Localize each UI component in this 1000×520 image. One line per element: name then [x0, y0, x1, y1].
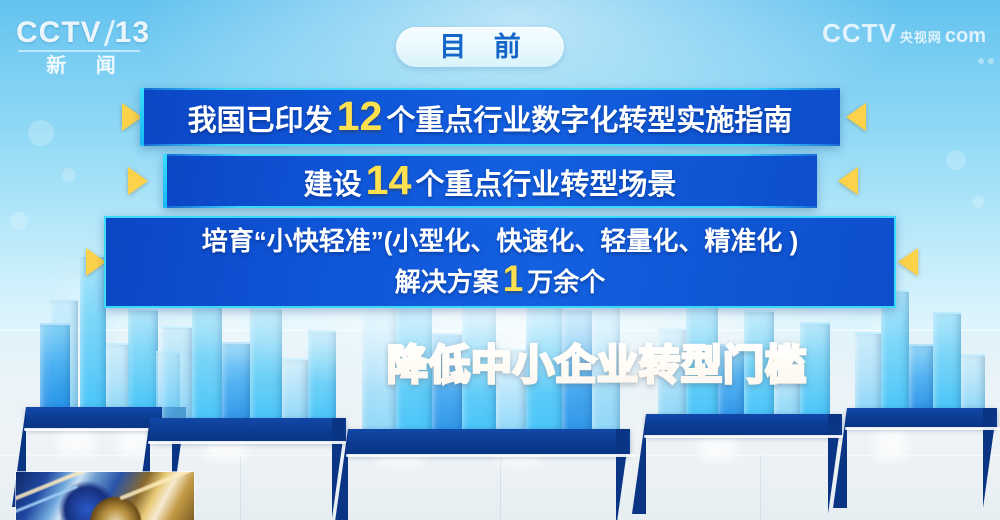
fact-3-line2-post: 万余个 [527, 267, 605, 297]
fact-2-post: 个重点行业转型场景 [415, 169, 676, 201]
fact-bar-3-line-2: 解决方案1万余个 [395, 261, 606, 298]
fact-bar-bottom-line [163, 206, 817, 208]
gold-headline: 降低中小企业转型门槛 [352, 339, 842, 391]
marker-arrow-right-2 [838, 167, 858, 195]
watermark-dots-icon [978, 58, 994, 64]
fact-bar-bottom-line [140, 144, 840, 146]
fact-2-pre: 建设 [304, 169, 362, 201]
bokeh-dot [946, 150, 966, 170]
marker-arrow-right-3 [898, 248, 918, 276]
globe-streak [119, 472, 194, 500]
fact-bar-1: 我国已印发12个重点行业数字化转型实施指南 [140, 88, 840, 146]
floor-seam [240, 455, 241, 520]
fact-1-number: 12 [333, 93, 387, 139]
fact-bar-1-text: 我国已印发12个重点行业数字化转型实施指南 [188, 96, 793, 139]
header-title-pill: 目 前 [396, 27, 564, 67]
fact-1-pre: 我国已印发 [188, 105, 333, 137]
bokeh-dot [972, 196, 984, 208]
bokeh-dot [28, 120, 54, 146]
fact-bar-top-line [140, 88, 840, 90]
broadcast-graphic-stage: CCTV13 新 闻 CCTV 央视网 com 目 前 我国已印发12个重点行业… [0, 0, 1000, 520]
marker-arrow-left-1 [122, 103, 142, 131]
fact-bar-2: 建设14个重点行业转型场景 [163, 154, 817, 208]
marker-arrow-right-1 [846, 103, 866, 131]
fact-bar-accent-edge [163, 154, 167, 208]
fact-3-line2-pre: 解决方案 [395, 267, 499, 297]
bokeh-dot [10, 212, 28, 230]
fact-3-line1-pre: 培育“小快轻准”(小型化、快速化、轻量化、精准化 ) [202, 226, 799, 256]
fact-2-number: 14 [362, 157, 416, 203]
bokeh-dot [62, 168, 76, 182]
globe-streak [16, 472, 93, 503]
fact-bar-3-line-1: 培育“小快轻准”(小型化、快速化、轻量化、精准化 ) [202, 226, 799, 257]
marker-arrow-left-3 [86, 248, 106, 276]
floor-seam [760, 455, 761, 520]
fact-bar-accent-edge [140, 88, 144, 146]
fact-1-post: 个重点行业数字化转型实施指南 [386, 105, 792, 137]
fact-bar-top-line [163, 154, 817, 156]
globe-streak [16, 485, 78, 514]
fact-bar-2-text: 建设14个重点行业转型场景 [304, 160, 677, 203]
marker-arrow-left-2 [128, 167, 148, 195]
page-title: 目 前 [429, 34, 531, 61]
fact-3-number: 1 [499, 258, 528, 299]
fact-bar-3: 培育“小快轻准”(小型化、快速化、轻量化、精准化 ) 解决方案1万余个 [104, 216, 896, 308]
lower-third-globe-graphic [16, 472, 194, 520]
